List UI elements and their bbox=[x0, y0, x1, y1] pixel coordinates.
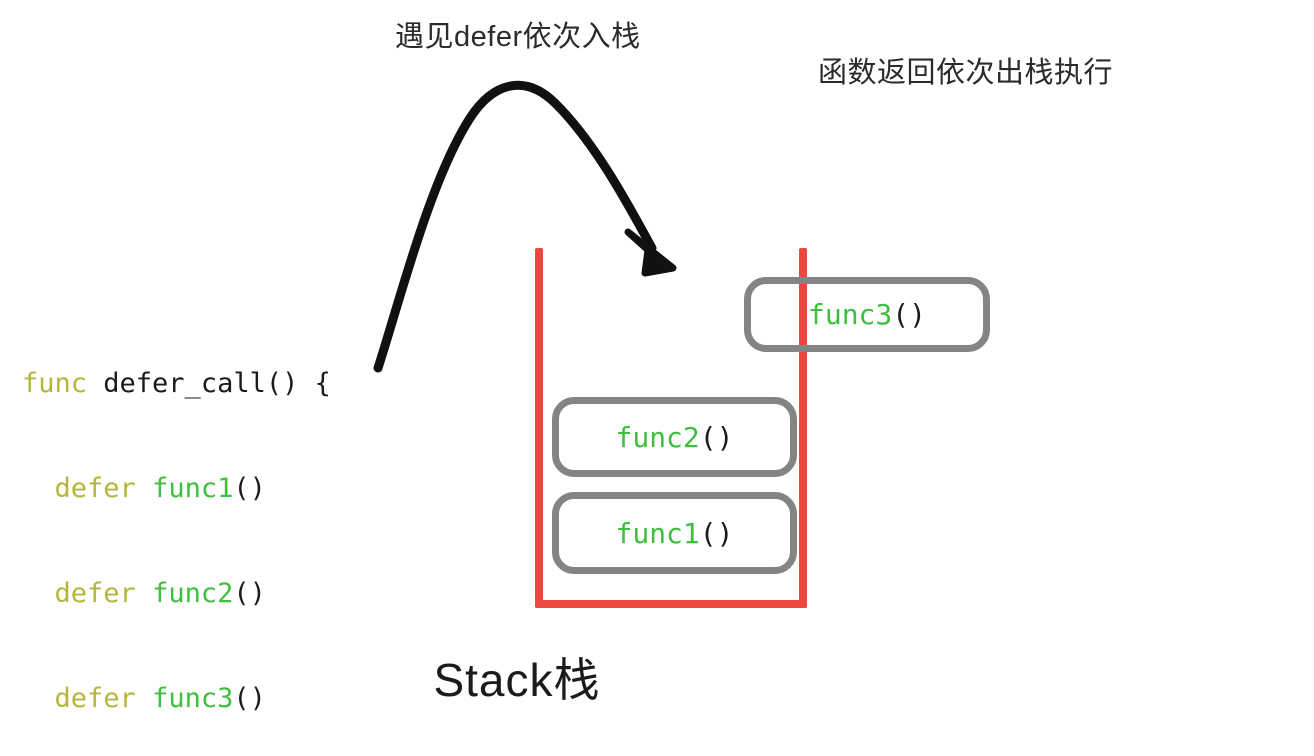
frame-parens: () bbox=[892, 298, 926, 331]
frame-func-name: func2 bbox=[615, 421, 699, 454]
stack-frame-func2: func2() bbox=[552, 397, 797, 477]
code-line-2: defer func1() bbox=[22, 471, 331, 506]
code-line-1: func defer_call() { bbox=[22, 366, 331, 401]
stack-frame-label: func1() bbox=[615, 517, 733, 550]
frame-func-name: func3 bbox=[808, 298, 892, 331]
code-indent bbox=[22, 578, 55, 609]
code-parens: () bbox=[233, 578, 266, 609]
code-func-signature: defer_call() { bbox=[103, 368, 331, 399]
code-keyword-defer: defer bbox=[55, 578, 153, 609]
code-call-func1: func1 bbox=[152, 473, 233, 504]
stack-frame-func3: func3() bbox=[744, 277, 990, 352]
stack-frame-label: func2() bbox=[615, 421, 733, 454]
stack-frame-func1: func1() bbox=[552, 492, 797, 574]
code-call-func2: func2 bbox=[152, 578, 233, 609]
code-parens: () bbox=[233, 473, 266, 504]
code-line-3: defer func2() bbox=[22, 576, 331, 611]
stack-title: Stack栈 bbox=[0, 644, 1174, 710]
code-keyword-defer: defer bbox=[55, 473, 153, 504]
frame-func-name: func1 bbox=[615, 517, 699, 550]
stack-rail-bottom bbox=[535, 600, 807, 608]
stack-rail-left bbox=[535, 248, 543, 608]
frame-parens: () bbox=[700, 421, 734, 454]
stack-frame-label: func3() bbox=[808, 298, 926, 331]
code-keyword-func: func bbox=[22, 368, 103, 399]
diagram-canvas: 遇见defer依次入栈 函数返回依次出栈执行 func defer_call()… bbox=[0, 0, 1314, 756]
frame-parens: () bbox=[700, 517, 734, 550]
code-indent bbox=[22, 473, 55, 504]
caption-pop-order: 函数返回依次出栈执行 bbox=[818, 58, 1113, 90]
caption-push-order: 遇见defer依次入栈 bbox=[395, 22, 641, 54]
